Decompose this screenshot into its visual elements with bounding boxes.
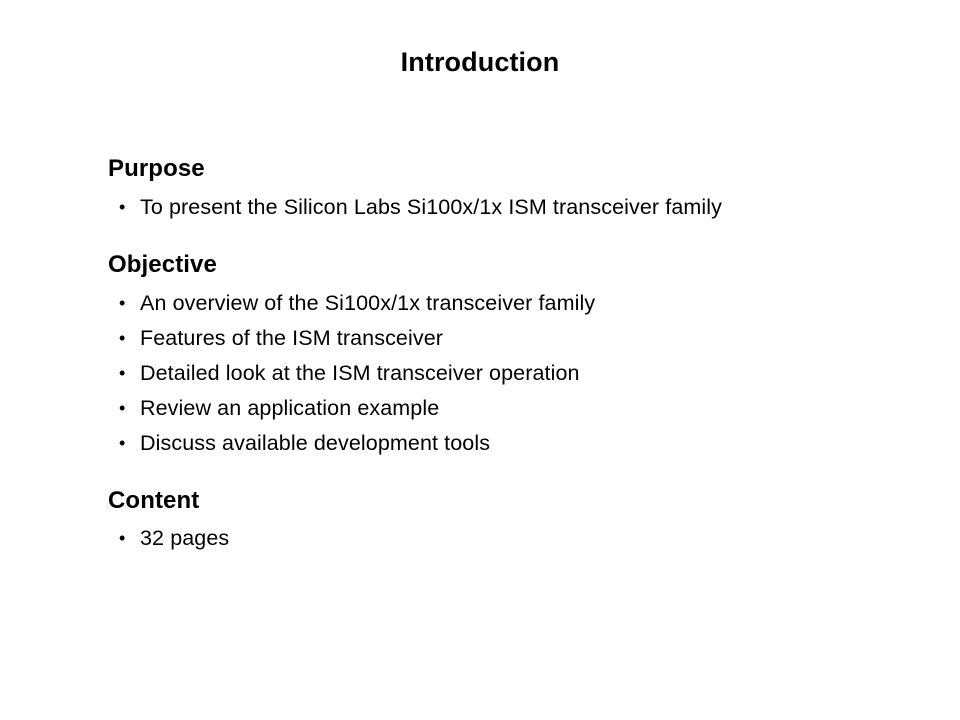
bullet-list-content: • 32 pages (108, 521, 908, 556)
slide: Introduction Purpose • To present the Si… (0, 0, 960, 720)
list-item-label: Review an application example (140, 396, 439, 420)
list-item: • Features of the ISM transceiver (108, 321, 908, 356)
list-item: • Review an application example (108, 391, 908, 426)
list-item-label: Features of the ISM transceiver (140, 326, 443, 350)
section-objective: Objective • An overview of the Si100x/1x… (108, 251, 908, 461)
list-item-label: To present the Silicon Labs Si100x/1x IS… (140, 195, 722, 219)
list-item: • Discuss available development tools (108, 426, 908, 461)
bullet-list-objective: • An overview of the Si100x/1x transceiv… (108, 286, 908, 461)
bullet-list-purpose: • To present the Silicon Labs Si100x/1x … (108, 190, 908, 225)
list-item-label: Detailed look at the ISM transceiver ope… (140, 361, 580, 385)
list-item: • An overview of the Si100x/1x transceiv… (108, 286, 908, 321)
bullet-icon: • (119, 356, 125, 391)
section-heading-purpose: Purpose (108, 155, 908, 184)
list-item: • 32 pages (108, 521, 908, 556)
list-item-label: 32 pages (140, 526, 229, 550)
list-item-label: An overview of the Si100x/1x transceiver… (140, 291, 595, 315)
bullet-icon: • (119, 321, 125, 356)
page-title: Introduction (0, 48, 960, 78)
bullet-icon: • (119, 286, 125, 321)
bullet-icon: • (119, 426, 125, 461)
list-item: • To present the Silicon Labs Si100x/1x … (108, 190, 908, 225)
list-item: • Detailed look at the ISM transceiver o… (108, 356, 908, 391)
section-purpose: Purpose • To present the Silicon Labs Si… (108, 155, 908, 225)
bullet-icon: • (119, 521, 125, 556)
section-content: Content • 32 pages (108, 487, 908, 557)
bullet-icon: • (119, 391, 125, 426)
slide-body: Purpose • To present the Silicon Labs Si… (108, 155, 908, 556)
section-heading-objective: Objective (108, 251, 908, 280)
list-item-label: Discuss available development tools (140, 431, 490, 455)
bullet-icon: • (119, 190, 125, 225)
section-heading-content: Content (108, 487, 908, 516)
